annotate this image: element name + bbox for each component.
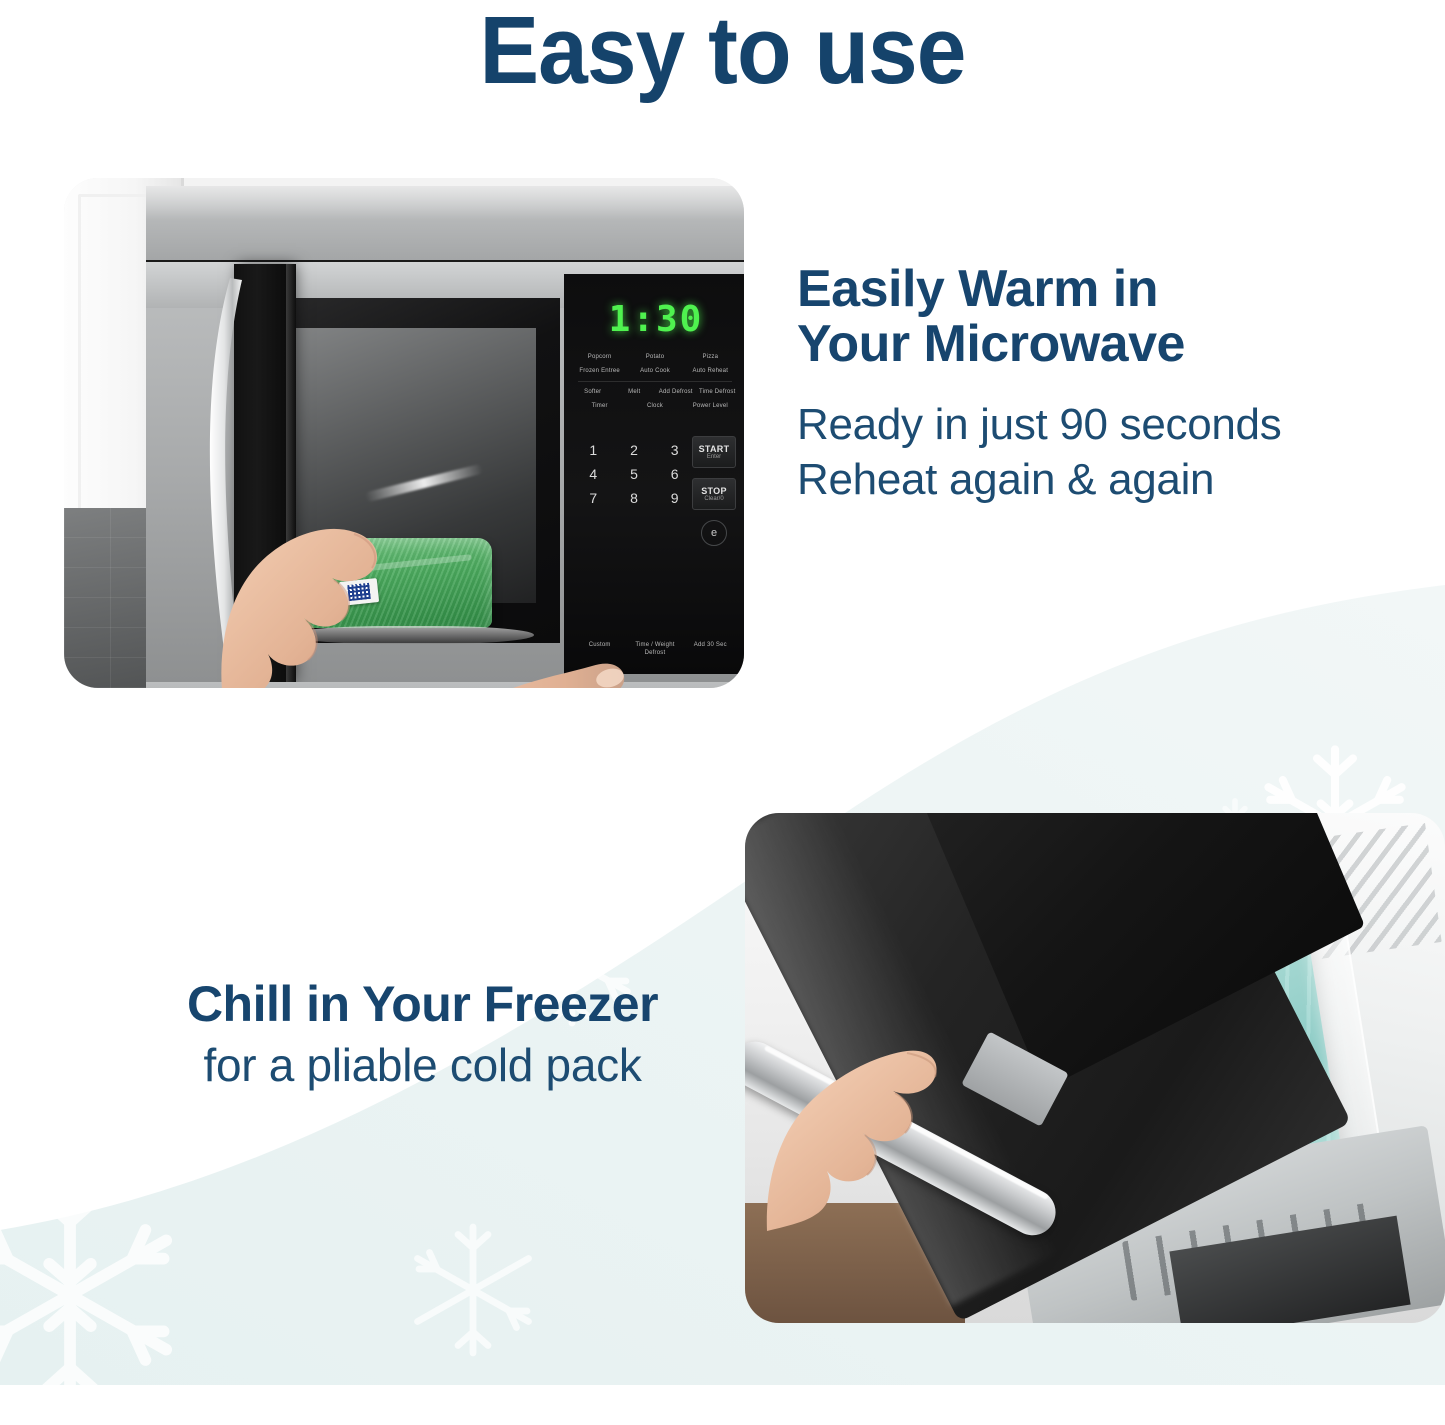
keypad-2[interactable]: 2 (615, 442, 654, 458)
microwave-display: 1:30 (586, 296, 726, 342)
hand-gripping-door-handle (214, 478, 444, 688)
keypad-5[interactable]: 5 (615, 466, 654, 482)
chill-subtext: for a pliable cold pack (110, 1039, 735, 1092)
warm-heading-line2: Your Microwave (797, 317, 1397, 372)
eco-mode-icon[interactable]: e (701, 520, 727, 546)
keypad-1[interactable]: 1 (574, 442, 613, 458)
preset-pizza[interactable]: Pizza (683, 350, 738, 364)
hand-gripping-freezer-handle (765, 1003, 995, 1233)
preset-auto-reheat[interactable]: Auto Reheat (683, 364, 738, 378)
page-title: Easy to use (51, 0, 1395, 106)
microwave-keypad[interactable]: 1 2 3 4 5 6 7 8 9 (574, 442, 694, 506)
hand-pressing-keypad (424, 598, 654, 688)
preset-potato[interactable]: Potato (627, 350, 682, 364)
keypad-9[interactable]: 9 (655, 490, 694, 506)
warm-subtext-line1: Ready in just 90 seconds (797, 398, 1397, 453)
keypad-7[interactable]: 7 (574, 490, 613, 506)
warm-text-block: Easily Warm in Your Microwave Ready in j… (797, 262, 1397, 507)
action-buttons[interactable]: START Enter STOP Clear/0 e (692, 436, 736, 546)
preset-row: Softer Melt Add Defrost Time Defrost (572, 385, 738, 399)
preset-time-defrost[interactable]: Time Defrost (697, 385, 739, 399)
preset-auto-cook[interactable]: Auto Cook (627, 364, 682, 378)
preset-popcorn[interactable]: Popcorn (572, 350, 627, 364)
stop-button[interactable]: STOP Clear/0 (692, 478, 736, 510)
preset-melt[interactable]: Melt (614, 385, 656, 399)
start-button[interactable]: START Enter (692, 436, 736, 468)
keypad-3[interactable]: 3 (655, 442, 694, 458)
microwave-body-top (146, 186, 744, 264)
chill-heading: Chill in Your Freezer (110, 978, 735, 1031)
stop-button-sublabel: Clear/0 (704, 496, 723, 502)
warm-heading: Easily Warm in Your Microwave (797, 262, 1397, 372)
panel-divider (578, 381, 732, 382)
preset-add-30-sec[interactable]: Add 30 Sec (683, 638, 738, 660)
stop-button-label: STOP (701, 486, 727, 496)
preset-clock[interactable]: Clock (627, 399, 682, 413)
preset-timer[interactable]: Timer (572, 399, 627, 413)
preset-power-level[interactable]: Power Level (683, 399, 738, 413)
microwave-photo: 1:30 Popcorn Potato Pizza Frozen Entree … (64, 178, 744, 688)
preset-add-defrost[interactable]: Add Defrost (655, 385, 697, 399)
freezer-photo: IOWA CORN BABY (745, 813, 1445, 1323)
start-button-label: START (699, 444, 730, 454)
warm-heading-line1: Easily Warm in (797, 262, 1397, 317)
preset-row: Popcorn Potato Pizza (572, 350, 738, 364)
start-button-sublabel: Enter (707, 454, 721, 460)
preset-row: Frozen Entree Auto Cook Auto Reheat (572, 364, 738, 378)
preset-button-rows[interactable]: Popcorn Potato Pizza Frozen Entree Auto … (572, 350, 738, 413)
keypad-8[interactable]: 8 (615, 490, 654, 506)
preset-frozen-entree[interactable]: Frozen Entree (572, 364, 627, 378)
keypad-6[interactable]: 6 (655, 466, 694, 482)
keypad-4[interactable]: 4 (574, 466, 613, 482)
preset-row: Timer Clock Power Level (572, 399, 738, 413)
preset-softer[interactable]: Softer (572, 385, 614, 399)
chill-text-block: Chill in Your Freezer for a pliable cold… (110, 978, 735, 1091)
warm-subtext-line2: Reheat again & again (797, 453, 1397, 508)
warm-subtext: Ready in just 90 seconds Reheat again & … (797, 398, 1397, 507)
